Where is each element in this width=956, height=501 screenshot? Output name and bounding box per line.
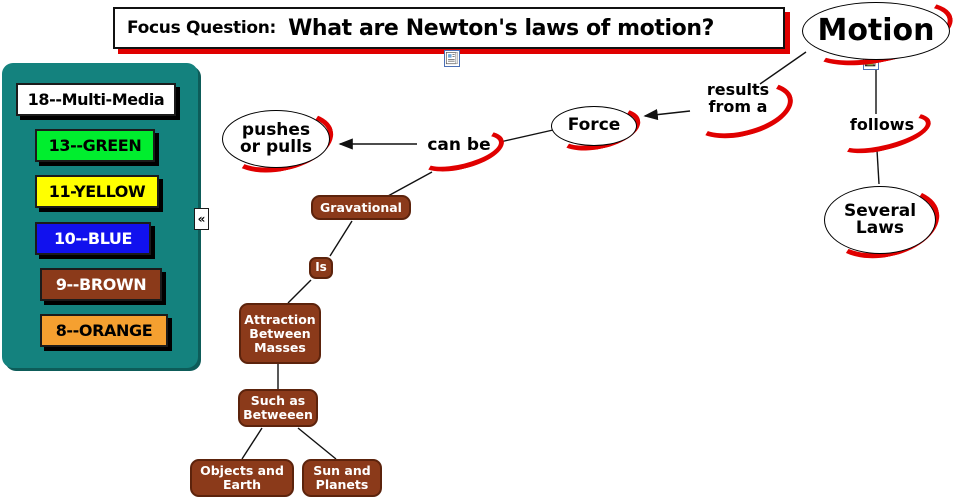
concept-node-attraction-between-masses[interactable]: Attraction Between Masses bbox=[239, 303, 321, 364]
concept-node-motion[interactable]: Motion bbox=[802, 2, 950, 60]
collapse-panel-icon[interactable]: « bbox=[194, 208, 209, 230]
edge-canbe-gravational bbox=[388, 172, 432, 196]
concept-node-sun-and-planets[interactable]: Sun and Planets bbox=[302, 459, 382, 497]
edge-results-force bbox=[645, 111, 690, 116]
edge-suchas-sun bbox=[298, 428, 336, 459]
focus-question-label: Focus Question: bbox=[127, 18, 276, 38]
link-label-results-from-a[interactable]: results from a bbox=[692, 82, 784, 116]
link-label-follows[interactable]: follows bbox=[838, 117, 926, 134]
edge-is-attraction bbox=[288, 280, 311, 303]
edge-suchas-objects bbox=[242, 428, 262, 459]
palette-item-yellow[interactable]: 11-YELLOW bbox=[35, 175, 159, 208]
link-label-can-be[interactable]: can be bbox=[421, 136, 497, 154]
link-label-is[interactable]: Is bbox=[309, 257, 333, 279]
concept-node-pushes-or-pulls[interactable]: pushes or pulls bbox=[222, 110, 330, 168]
concept-node-objects-and-earth[interactable]: Objects and Earth bbox=[190, 459, 294, 497]
focus-question-text: What are Newton's laws of motion? bbox=[288, 16, 714, 41]
multimedia-palette-panel[interactable]: 18--Multi-Media 13--GREEN 11-YELLOW 10--… bbox=[2, 63, 198, 368]
link-label-such-as-betweeen[interactable]: Such as Betweeen bbox=[238, 389, 318, 427]
palette-item-blue[interactable]: 10--BLUE bbox=[35, 222, 151, 255]
concept-node-several-laws[interactable]: Several Laws bbox=[824, 186, 936, 254]
concept-node-gravational[interactable]: Gravational bbox=[311, 195, 411, 220]
edge-gravational-is bbox=[330, 221, 352, 256]
palette-item-multi-media[interactable]: 18--Multi-Media bbox=[16, 83, 176, 116]
palette-item-green[interactable]: 13--GREEN bbox=[35, 129, 155, 162]
document-icon[interactable] bbox=[444, 50, 460, 67]
concept-node-force[interactable]: Force bbox=[551, 106, 637, 146]
edge-follows-several bbox=[877, 150, 879, 184]
edge-force-canbe bbox=[500, 130, 553, 142]
concept-map-canvas[interactable]: Focus Question: What are Newton's laws o… bbox=[0, 0, 956, 501]
palette-item-orange[interactable]: 8--ORANGE bbox=[40, 314, 168, 347]
focus-question-bar[interactable]: Focus Question: What are Newton's laws o… bbox=[113, 7, 785, 49]
palette-item-brown[interactable]: 9--BROWN bbox=[40, 268, 162, 301]
